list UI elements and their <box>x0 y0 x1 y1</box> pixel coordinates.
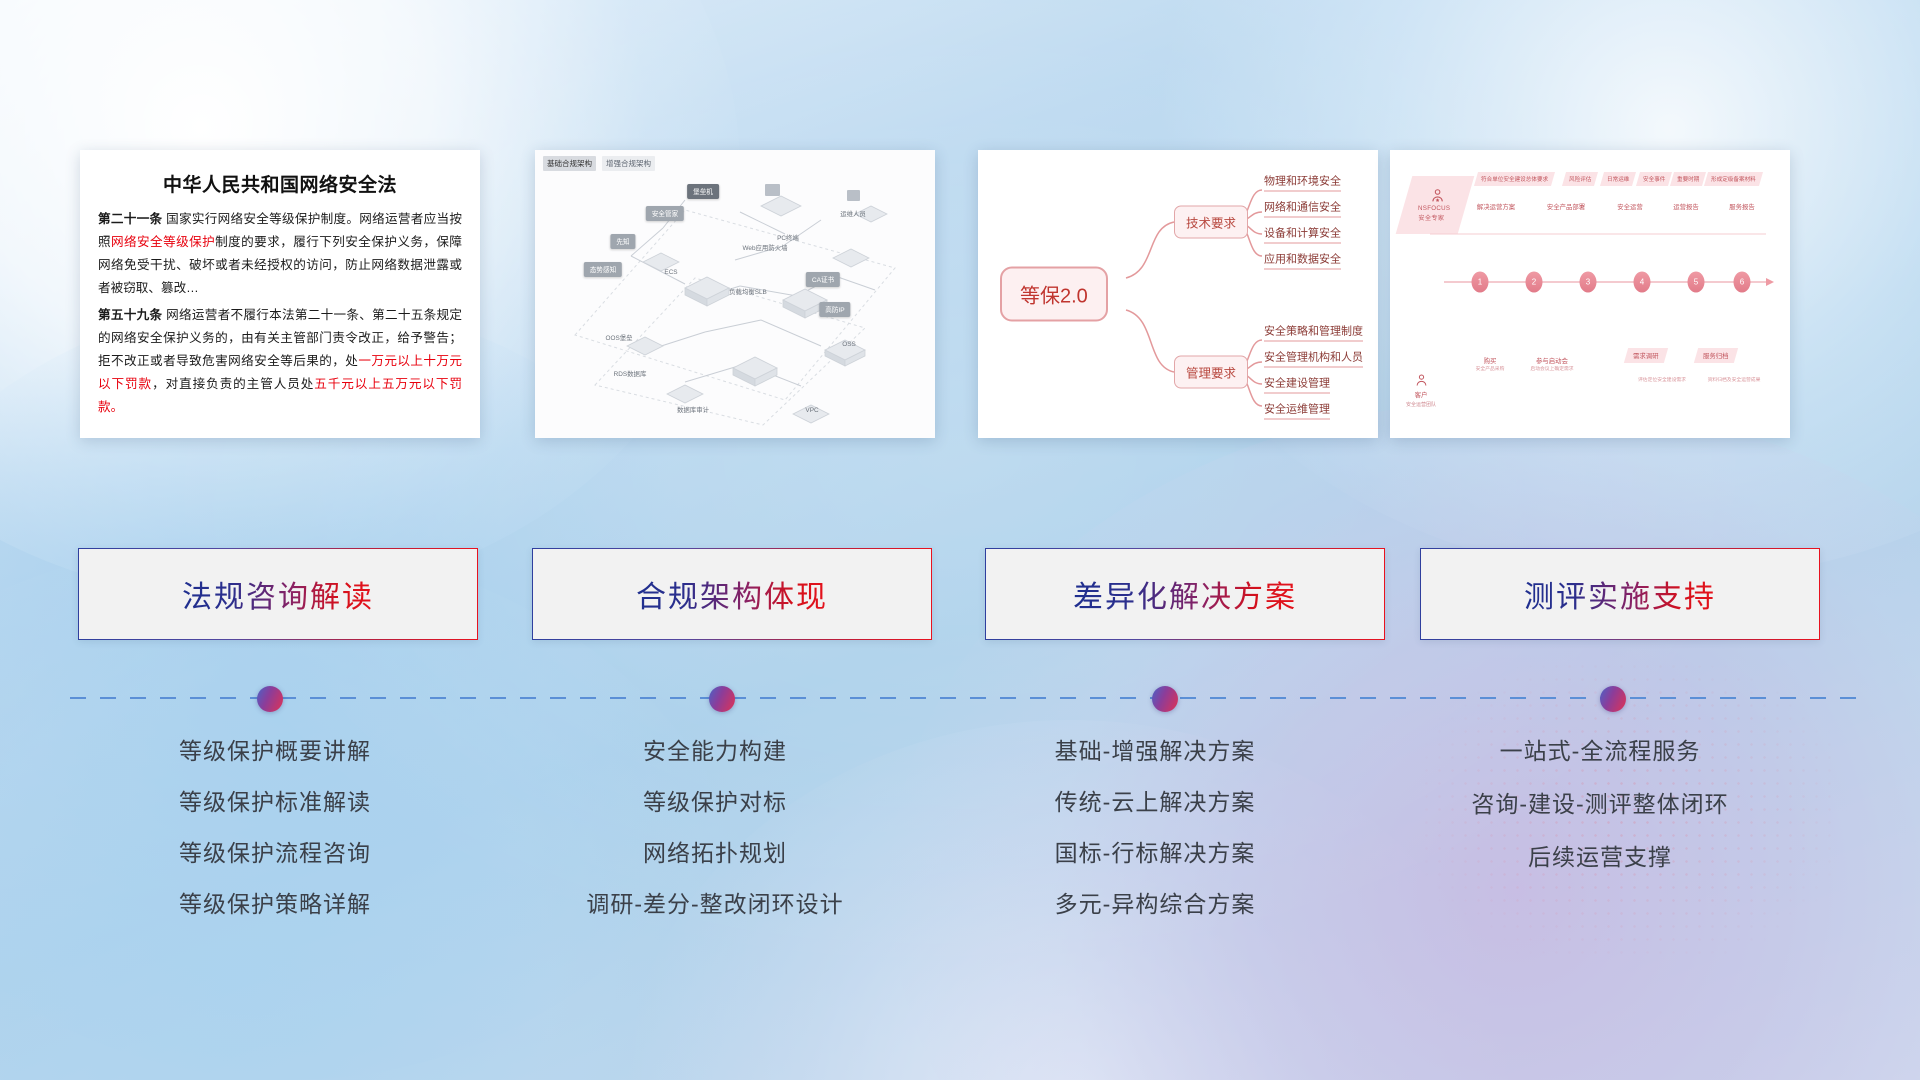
list-item: 安全能力构建 <box>500 740 930 763</box>
list-item: 调研-差分-整改闭环设计 <box>500 893 930 916</box>
item-list-column-2: 安全能力构建 等级保护对标 网络拓扑规划 调研-差分-整改闭环设计 <box>500 740 930 944</box>
list-item: 咨询-建设-测评整体闭环 <box>1385 793 1815 816</box>
list-item: 多元-异构综合方案 <box>940 893 1370 916</box>
nsfocus-step-number: 3 <box>1580 272 1597 293</box>
law-article-number: 第五十九条 <box>98 308 162 322</box>
nsfocus-customer-name: 客户 <box>1415 390 1428 399</box>
arch-node-bastion: 堡垒机 <box>687 181 719 199</box>
nsfocus-bottom-tag: 需求调研 <box>1624 348 1668 363</box>
timeline-dot[interactable] <box>257 686 283 712</box>
nsfocus-step-number: 4 <box>1634 272 1651 293</box>
list-item: 后续运营支撑 <box>1385 846 1815 869</box>
nsfocus-customer-role: 安全运营团队 <box>1406 401 1436 408</box>
arch-node-slb: 负载均衡SLB <box>729 281 767 299</box>
list-item: 等级保护策略详解 <box>60 893 490 916</box>
architecture-diagram: 基础合规架构 增强合规架构 <box>535 150 935 438</box>
mindmap-leaf: 安全管理机构和人员 <box>1264 349 1363 368</box>
list-item: 等级保护标准解读 <box>60 791 490 814</box>
nsfocus-bottom-tag: 服务归档 <box>1694 348 1738 363</box>
pill-evaluation-support[interactable]: 测评实施支持 <box>1420 548 1820 640</box>
nsfocus-step-number: 6 <box>1734 272 1751 293</box>
card-compliance-architecture[interactable]: 基础合规架构 增强合规架构 <box>535 150 935 438</box>
customer-person-icon <box>1414 373 1429 388</box>
arch-node-oos-bastion: OOS堡垒 <box>606 327 633 345</box>
mindmap-leaf: 安全运维管理 <box>1264 401 1330 420</box>
nsfocus-bottom-tag-sub: 评估定位安全建设需求 <box>1638 376 1686 383</box>
list-item: 一站式-全流程服务 <box>1385 740 1815 763</box>
preview-card-row: 中华人民共和国网络安全法 第二十一条 国家实行网络安全等级保护制度。网络运营者应… <box>0 150 1920 450</box>
list-item: 等级保护对标 <box>500 791 930 814</box>
arch-node-situational-awareness: 态势感知 <box>584 259 622 277</box>
timeline-dot[interactable] <box>1152 686 1178 712</box>
mindmap-leaf: 物理和环境安全 <box>1264 173 1341 192</box>
item-list-column-1: 等级保护概要讲解 等级保护标准解读 等级保护流程咨询 等级保护策略详解 <box>60 740 490 944</box>
arch-node-xianzhi: 先知 <box>610 231 635 249</box>
item-list-row: 等级保护概要讲解 等级保护标准解读 等级保护流程咨询 等级保护策略详解 安全能力… <box>0 740 1920 970</box>
nsfocus-bottom-step: 购买 安全产品采购 <box>1476 356 1505 372</box>
pill-regulation-consulting[interactable]: 法规咨询解读 <box>78 548 478 640</box>
nsfocus-timeline-svg <box>1390 150 1790 438</box>
nsfocus-step-number: 5 <box>1688 272 1705 293</box>
nsfocus-step-number: 2 <box>1526 272 1543 293</box>
pill-differentiated-solution[interactable]: 差异化解决方案 <box>985 548 1385 640</box>
arch-node-db-audit: 数据库审计 <box>677 399 709 417</box>
nsfocus-step-number: 1 <box>1472 272 1489 293</box>
pill-label: 合规架构体现 <box>636 572 828 616</box>
item-list-column-3: 基础-增强解决方案 传统-云上解决方案 国标-行标解决方案 多元-异构综合方案 <box>940 740 1370 944</box>
arch-node-oss: OSS <box>842 333 856 351</box>
list-item: 等级保护概要讲解 <box>60 740 490 763</box>
item-list-column-4: 一站式-全流程服务 咨询-建设-测评整体闭环 后续运营支撑 <box>1385 740 1815 899</box>
mindmap-branch-management: 管理要求 <box>1174 356 1248 389</box>
arch-node-security-butler: 安全管家 <box>646 203 684 221</box>
nsfocus-bottom-step: 参与启动会 启动会议上确定需求 <box>1530 356 1573 372</box>
arch-node-ecs: ECS <box>664 261 677 279</box>
timeline-dashed-line <box>70 697 1860 699</box>
list-item: 网络拓扑规划 <box>500 842 930 865</box>
timeline-dot[interactable] <box>1600 686 1626 712</box>
arch-node-anti-ddos-ip: 高防IP <box>819 299 850 317</box>
nsfocus-customer-badge: 客户 安全运营团队 <box>1406 373 1436 408</box>
arch-node-ops-staff: 运维人员 <box>840 203 866 221</box>
law-run: ，对直接负责的主管人员处 <box>152 377 314 391</box>
nsfocus-bottom-tag-sub: 资料归档及安全运营成果 <box>1708 376 1761 383</box>
arch-node-ca-cert: CA证书 <box>806 269 840 287</box>
list-item: 基础-增强解决方案 <box>940 740 1370 763</box>
card-nsfocus-service-timeline[interactable]: NSFOCUS 安全专家 符合单位安全建设总体要求 风险评估 日常运维 安全事件… <box>1390 150 1790 438</box>
timeline-dot[interactable] <box>709 686 735 712</box>
mindmap-leaf: 应用和数据安全 <box>1264 251 1341 270</box>
arch-node-rds: RDS数据库 <box>614 363 647 381</box>
mindmap-leaf: 安全建设管理 <box>1264 375 1330 394</box>
law-paragraph-59: 第五十九条 网络运营者不履行本法第二十一条、第二十五条规定的网络安全保护义务的，… <box>98 304 462 419</box>
mindmap-leaf: 安全策略和管理制度 <box>1264 323 1363 342</box>
list-item: 等级保护流程咨询 <box>60 842 490 865</box>
arch-node-vpc: VPC <box>805 399 818 417</box>
law-article-number: 第二十一条 <box>98 212 162 226</box>
mindmap-leaf: 设备和计算安全 <box>1264 225 1341 244</box>
mindmap-branch-technical: 技术要求 <box>1174 206 1248 239</box>
card-dengbao-mindmap[interactable]: 等保2.0 技术要求 管理要求 物理和环境安全 网络和通信安全 设备和计算安全 … <box>978 150 1378 438</box>
arch-node-waf: Web应用防火墙 <box>743 237 788 255</box>
nsfocus-diagram: NSFOCUS 安全专家 符合单位安全建设总体要求 风险评估 日常运维 安全事件… <box>1390 150 1790 438</box>
list-item: 国标-行标解决方案 <box>940 842 1370 865</box>
mindmap-diagram: 等保2.0 技术要求 管理要求 物理和环境安全 网络和通信安全 设备和计算安全 … <box>978 150 1378 438</box>
list-item: 传统-云上解决方案 <box>940 791 1370 814</box>
pill-compliance-architecture[interactable]: 合规架构体现 <box>532 548 932 640</box>
pill-button-row: 法规咨询解读 合规架构体现 差异化解决方案 测评实施支持 <box>0 548 1920 643</box>
mindmap-leaf: 网络和通信安全 <box>1264 199 1341 218</box>
law-paragraph-21: 第二十一条 国家实行网络安全等级保护制度。网络运营者应当按照网络安全等级保护制度… <box>98 208 462 300</box>
card-cybersecurity-law[interactable]: 中华人民共和国网络安全法 第二十一条 国家实行网络安全等级保护制度。网络运营者应… <box>80 150 480 438</box>
mindmap-root-node: 等保2.0 <box>1000 267 1108 322</box>
pill-label: 法规咨询解读 <box>182 572 374 616</box>
law-title: 中华人民共和国网络安全法 <box>98 170 462 197</box>
pill-label: 测评实施支持 <box>1524 572 1716 616</box>
pill-label: 差异化解决方案 <box>1073 572 1297 616</box>
law-run-highlight: 网络安全等级保护 <box>111 235 215 249</box>
